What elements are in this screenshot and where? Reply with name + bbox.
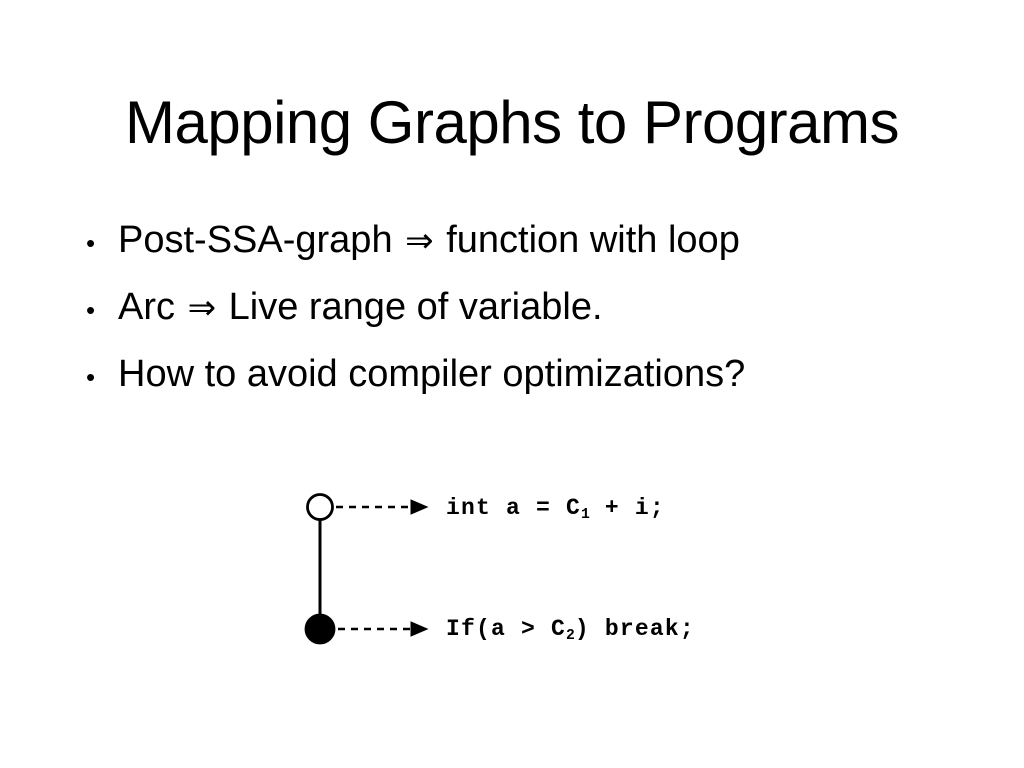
node-filled xyxy=(306,615,334,643)
list-item: • How to avoid compiler optimizations? xyxy=(86,342,966,409)
node-open xyxy=(308,495,333,520)
code-label-top-suffix: + i; xyxy=(590,495,665,521)
list-item-text: How to avoid compiler optimizations? xyxy=(118,342,749,407)
bullet-list: • Post-SSA-graph ⇒ function with loop • … xyxy=(86,208,966,409)
code-label-top-subscript: 1 xyxy=(581,507,590,523)
code-label-bottom-subscript: 2 xyxy=(566,628,575,644)
list-item-text-before: How to avoid compiler optimizations? xyxy=(118,353,745,395)
list-item: • Arc ⇒ Live range of variable. xyxy=(86,275,966,342)
bullet-marker-icon: • xyxy=(86,278,118,342)
list-item-text-before: Arc xyxy=(118,286,186,328)
list-item-text-after: function with loop xyxy=(436,219,740,261)
bullet-marker-icon: • xyxy=(86,345,118,409)
list-item-text: Post-SSA-graph ⇒ function with loop xyxy=(118,208,740,273)
double-arrow-icon: ⇒ xyxy=(403,221,436,261)
list-item-text-before: Post-SSA-graph xyxy=(118,219,403,261)
code-label-bottom-prefix: If(a > C xyxy=(446,616,566,642)
double-arrow-icon: ⇒ xyxy=(186,288,219,328)
code-label-top-prefix: int a = C xyxy=(446,495,581,521)
code-label-bottom: If(a > C2) break; xyxy=(446,616,695,644)
list-item-text: Arc ⇒ Live range of variable. xyxy=(118,275,603,340)
double-arrow-icon xyxy=(745,355,749,395)
slide: Mapping Graphs to Programs • Post-SSA-gr… xyxy=(0,0,1024,768)
list-item: • Post-SSA-graph ⇒ function with loop xyxy=(86,208,966,275)
graph-diagram: int a = C1 + i; If(a > C2) break; xyxy=(280,470,800,660)
code-label-bottom-suffix: ) break; xyxy=(575,616,695,642)
page-title: Mapping Graphs to Programs xyxy=(0,88,1024,158)
code-label-top: int a = C1 + i; xyxy=(446,495,665,523)
bullet-marker-icon: • xyxy=(86,211,118,275)
list-item-text-after: Live range of variable. xyxy=(218,286,602,328)
